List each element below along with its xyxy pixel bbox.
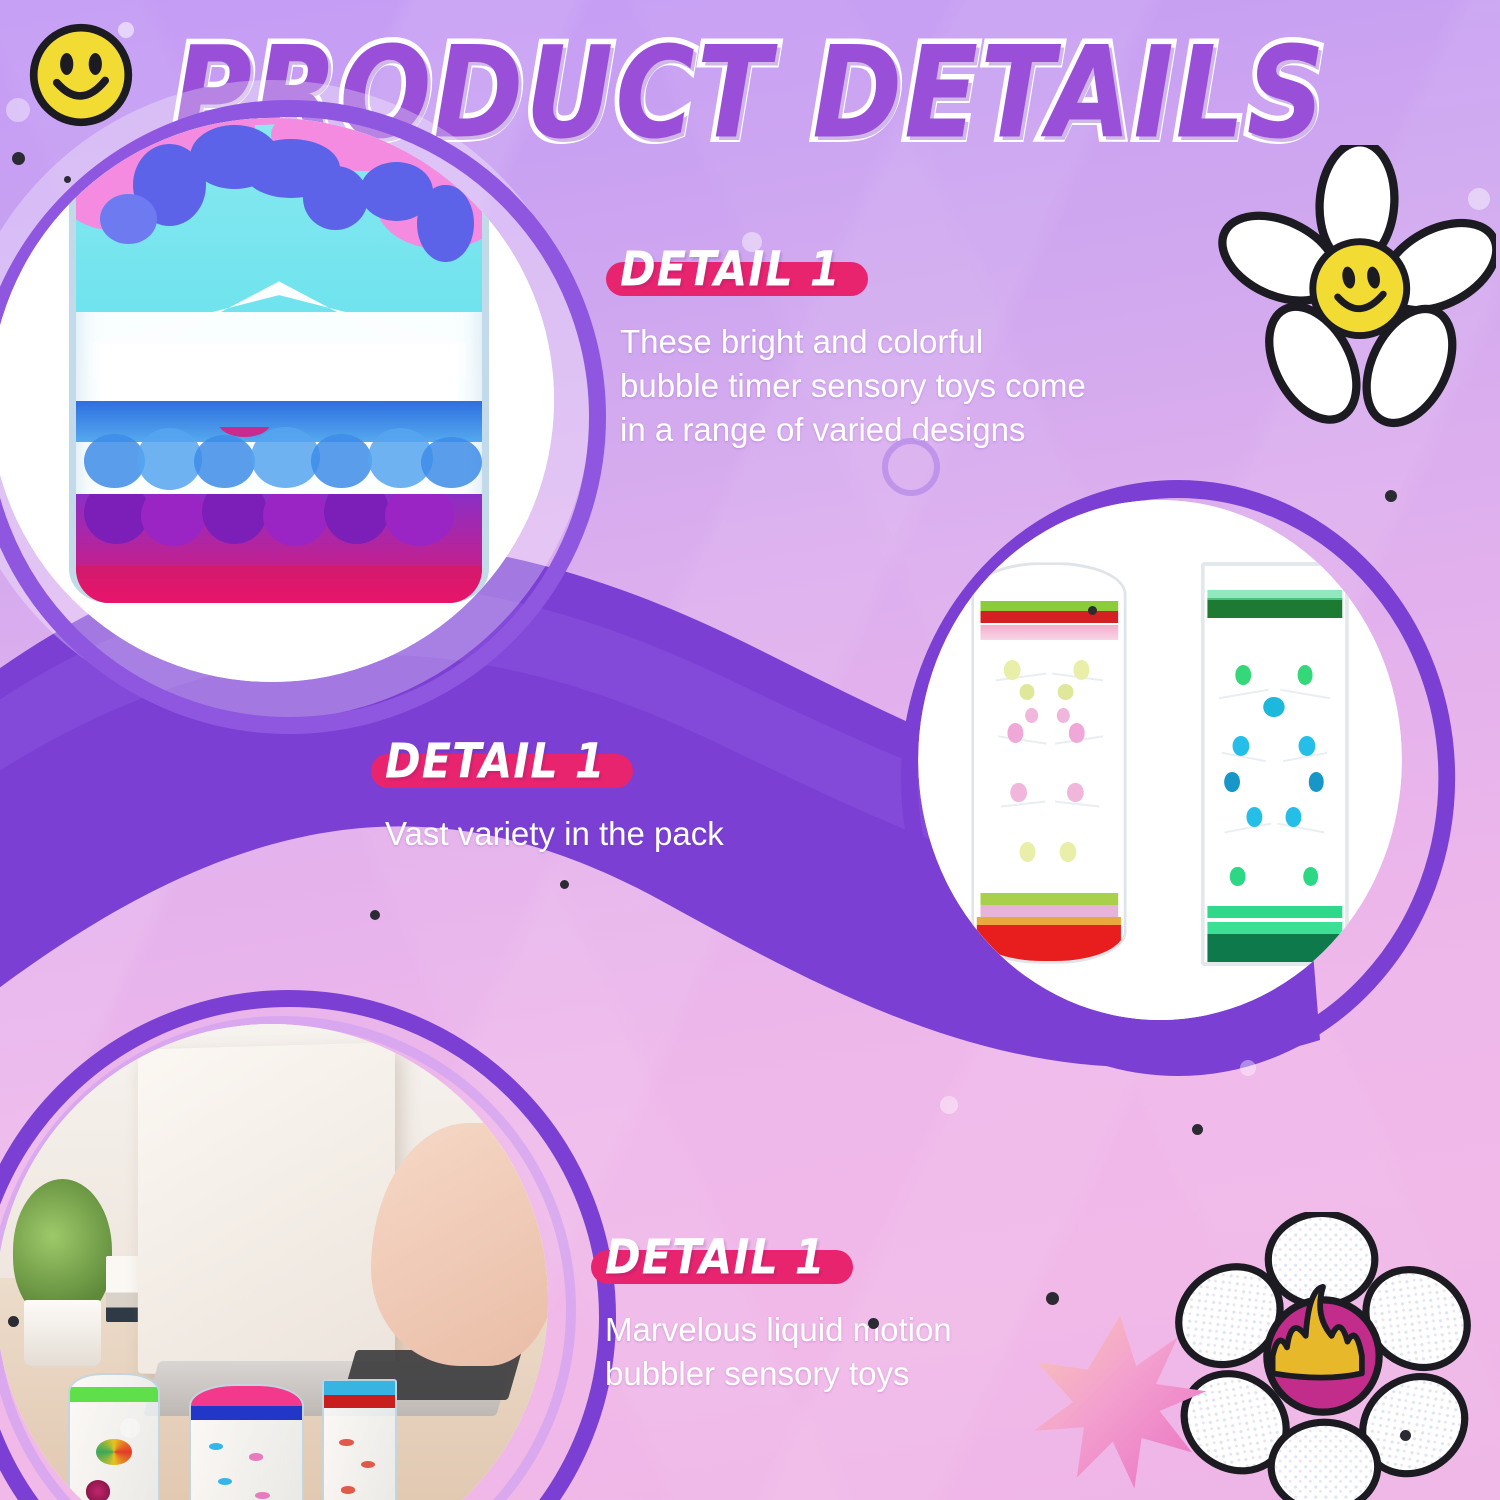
plant-pot [24,1300,101,1366]
decor-dot [64,176,71,183]
decor-speckle [118,22,134,38]
detail-block-2: DETAIL 1 Vast variety in the pack [385,740,925,856]
starburst-icon [1030,1312,1210,1492]
detail-2-body: Vast variety in the pack [385,812,925,856]
timer-green-hourglass [68,1373,160,1500]
decor-dot [868,1318,879,1329]
detail-1-body: These bright and colorful bubble timer s… [620,320,1220,452]
photo-two-timers[interactable] [918,500,1402,1020]
decor-speckle [940,1096,958,1114]
detail-1-heading: DETAIL 1 [620,242,841,298]
decor-dot [370,910,380,920]
infographic-page: PRODUCT DETAILS [0,0,1500,1500]
timer-red-rectangular [322,1379,398,1500]
decor-dot [1088,606,1097,615]
detail-2-heading-wrap: DETAIL 1 [385,740,610,790]
detail-3-heading-wrap: DETAIL 1 [605,1236,830,1286]
decor-dot [1400,1430,1411,1441]
smiley-face-icon [26,20,136,130]
flower-flame-icon [1168,1212,1478,1500]
decor-dot [8,1316,19,1327]
detail-2-heading: DETAIL 1 [385,734,606,790]
decor-dot [1046,1292,1059,1305]
decor-dot [1192,1124,1203,1135]
bubble-outline-icon [882,438,940,496]
decor-speckle [1468,188,1490,210]
decor-dot [1385,490,1397,502]
photo-desk-laptop[interactable] [0,1024,548,1500]
photo-bubble-timer-closeup[interactable] [0,118,554,682]
timer-wavy [971,562,1126,963]
detail-block-1: DETAIL 1 These bright and colorful bubbl… [620,248,1220,452]
decor-speckle [6,98,30,122]
decor-dot [12,152,25,165]
timer-pink-blue-curvy [189,1384,303,1500]
decor-dot [560,880,569,889]
decor-speckle [120,1418,140,1438]
decor-speckle [1240,1060,1256,1076]
timer-rect [1201,562,1349,965]
laptop-lid [138,1042,396,1381]
detail-1-heading-wrap: DETAIL 1 [620,248,845,298]
detail-3-heading: DETAIL 1 [605,1230,826,1286]
daisy-flower-smiley-icon [1218,145,1496,435]
